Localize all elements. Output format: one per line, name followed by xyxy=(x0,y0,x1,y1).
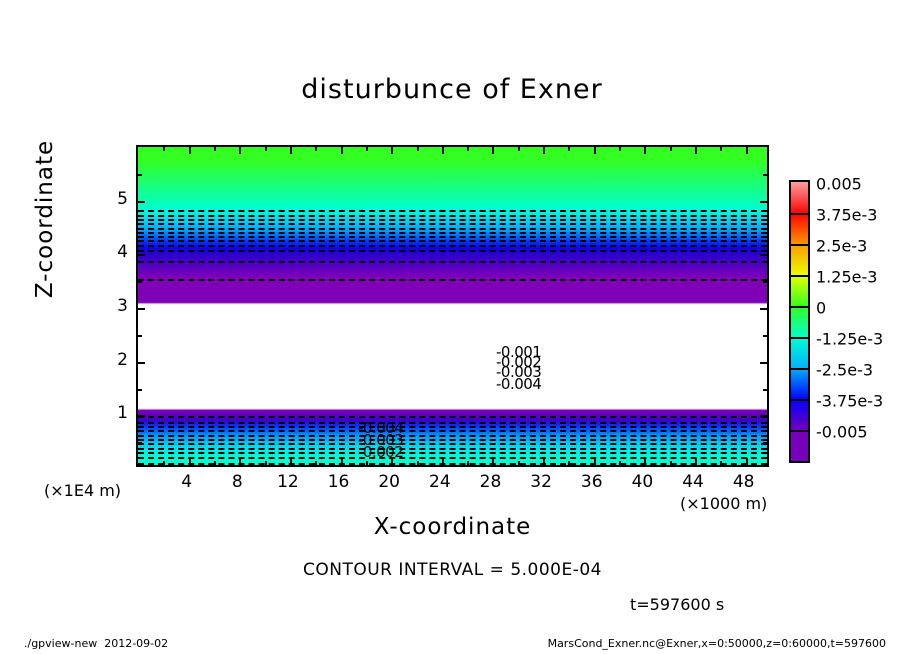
y-axis-minor-tick xyxy=(138,174,142,176)
contour-line xyxy=(138,422,767,424)
y-axis-minor-tick xyxy=(763,335,767,337)
x-axis-tick xyxy=(442,458,444,465)
x-axis-tick xyxy=(391,147,393,154)
y-axis-minor-tick xyxy=(138,335,142,337)
x-axis-tick-label: 28 xyxy=(480,472,502,492)
y-axis-tick xyxy=(760,308,767,310)
colorbar-tick-label: -1.25e-3 xyxy=(816,330,883,349)
colorbar-segment xyxy=(791,368,808,400)
x-axis-minor-tick xyxy=(619,461,621,465)
colorbar-divider xyxy=(791,213,808,215)
colorbar-divider xyxy=(791,430,808,432)
y-axis-tick-label: 4 xyxy=(100,242,128,262)
colorbar-segment xyxy=(791,244,808,276)
contour-line xyxy=(138,279,767,281)
colorbar-tick-label: -2.5e-3 xyxy=(816,361,873,380)
x-axis-tick-label: 24 xyxy=(429,472,451,492)
x-axis-tick xyxy=(290,147,292,154)
page-title: disturbunce of Exner xyxy=(0,74,904,105)
colorbar-divider xyxy=(791,368,808,370)
x-axis-tick xyxy=(341,458,343,465)
colorbar xyxy=(789,180,810,463)
x-axis-minor-tick xyxy=(417,461,419,465)
contour-line xyxy=(138,236,767,238)
y-axis-unit-label: (×1E4 m) xyxy=(44,481,121,500)
x-axis-tick xyxy=(492,147,494,154)
contour-line xyxy=(138,435,767,437)
x-axis-tick xyxy=(594,147,596,154)
y-axis-tick xyxy=(138,201,145,203)
y-axis-tick xyxy=(760,201,767,203)
y-axis-minor-tick xyxy=(763,389,767,391)
x-axis-tick xyxy=(290,458,292,465)
contour-line xyxy=(138,463,767,465)
x-axis-minor-tick xyxy=(568,147,570,151)
colorbar-segment xyxy=(791,213,808,245)
contour-line xyxy=(138,250,767,252)
x-axis-tick xyxy=(341,147,343,154)
colorbar-segment xyxy=(791,182,808,214)
y-axis-minor-tick xyxy=(138,442,142,444)
x-axis-tick xyxy=(543,458,545,465)
colorbar-segment xyxy=(791,306,808,338)
x-axis-tick xyxy=(644,147,646,154)
footer-command: ./gpview-new 2012-09-02 xyxy=(24,637,168,650)
x-axis-tick xyxy=(746,458,748,465)
x-axis-tick-label: 12 xyxy=(277,472,299,492)
y-axis-minor-tick xyxy=(763,281,767,283)
colorbar-segment xyxy=(791,430,808,462)
x-axis-minor-tick xyxy=(366,461,368,465)
x-axis-unit-label: (×1000 m) xyxy=(680,494,767,513)
contour-line xyxy=(138,215,767,217)
x-axis-minor-tick xyxy=(467,147,469,151)
x-axis-tick xyxy=(492,458,494,465)
contour-line xyxy=(138,426,767,428)
x-axis-tick xyxy=(594,458,596,465)
x-axis-minor-tick xyxy=(265,461,267,465)
contour-line xyxy=(138,416,767,418)
y-axis-tick-label: 1 xyxy=(100,403,128,423)
colorbar-segment xyxy=(791,337,808,369)
colorbar-tick-label: 2.5e-3 xyxy=(816,237,867,256)
x-axis-minor-tick xyxy=(720,147,722,151)
contour-line xyxy=(138,261,767,263)
plot-area: -0.001 -0.002 -0.003 -0.004 -0.004 xyxy=(136,145,769,467)
y-axis-minor-tick xyxy=(138,389,142,391)
x-axis-tick-label: 40 xyxy=(632,472,654,492)
y-axis-tick-label: 3 xyxy=(100,296,128,316)
contour-line xyxy=(138,228,767,230)
contour-line xyxy=(138,457,767,459)
y-axis-minor-tick xyxy=(138,281,142,283)
y-axis-tick xyxy=(760,362,767,364)
contour-line xyxy=(138,439,767,441)
x-axis-minor-tick xyxy=(518,147,520,151)
y-axis-tick xyxy=(138,308,145,310)
x-axis-tick-label: 4 xyxy=(181,472,192,492)
x-axis-minor-tick xyxy=(720,461,722,465)
x-axis-tick-label: 36 xyxy=(581,472,603,492)
x-axis-minor-tick xyxy=(315,461,317,465)
contour-line xyxy=(138,223,767,225)
x-axis-tick xyxy=(239,458,241,465)
contour-label: -0.004 xyxy=(496,375,541,393)
y-axis-minor-tick xyxy=(763,174,767,176)
x-axis-tick-label: 32 xyxy=(530,472,552,492)
y-axis-minor-tick xyxy=(763,442,767,444)
x-axis-minor-tick xyxy=(467,461,469,465)
colorbar-tick-label: 3.75e-3 xyxy=(816,206,877,225)
contour-interval-note: CONTOUR INTERVAL = 5.000E-04 xyxy=(136,560,769,580)
contour-label: -0.002 xyxy=(358,443,403,461)
x-axis-minor-tick xyxy=(163,461,165,465)
y-axis-tick-label: 2 xyxy=(100,350,128,370)
x-axis-tick xyxy=(644,458,646,465)
contour-line xyxy=(138,452,767,454)
colorbar-divider xyxy=(791,399,808,401)
contour-line xyxy=(138,448,767,450)
colorbar-tick-label: -0.005 xyxy=(816,423,868,442)
colorbar-segment xyxy=(791,399,808,431)
colorbar-divider xyxy=(791,337,808,339)
y-axis-minor-tick xyxy=(138,228,142,230)
colorbar-divider xyxy=(791,244,808,246)
footer-source: MarsCond_Exner.nc@Exner,x=0:50000,z=0:60… xyxy=(548,637,886,650)
y-axis-title: Z-coordinate xyxy=(32,119,58,319)
x-axis-tick xyxy=(189,147,191,154)
colorbar-tick-label: -3.75e-3 xyxy=(816,392,883,411)
x-axis-minor-tick xyxy=(366,147,368,151)
x-axis-minor-tick xyxy=(214,147,216,151)
x-axis-tick xyxy=(695,458,697,465)
y-axis-minor-tick xyxy=(763,228,767,230)
x-axis-tick xyxy=(189,458,191,465)
x-axis-minor-tick xyxy=(568,461,570,465)
x-axis-tick-label: 16 xyxy=(328,472,350,492)
y-axis-tick xyxy=(138,362,145,364)
colorbar-divider xyxy=(791,306,808,308)
colorbar-divider xyxy=(791,275,808,277)
x-axis-tick-label: 44 xyxy=(682,472,704,492)
contour-line xyxy=(138,430,767,432)
x-axis-tick-label: 8 xyxy=(232,472,243,492)
x-axis-minor-tick xyxy=(670,147,672,151)
x-axis-tick xyxy=(746,147,748,154)
x-axis-minor-tick xyxy=(163,147,165,151)
timestamp-note: t=597600 s xyxy=(630,595,724,614)
x-axis-minor-tick xyxy=(670,461,672,465)
y-axis-tick xyxy=(760,415,767,417)
contour-line xyxy=(138,232,767,234)
y-axis-tick xyxy=(760,254,767,256)
colorbar-tick-label: 0 xyxy=(816,299,826,318)
x-axis-minor-tick xyxy=(265,147,267,151)
colorbar-tick-label: 1.25e-3 xyxy=(816,268,877,287)
colorbar-tick-label: 0.005 xyxy=(816,175,862,194)
x-axis-minor-tick xyxy=(214,461,216,465)
y-axis-tick xyxy=(138,254,145,256)
x-axis-minor-tick xyxy=(417,147,419,151)
x-axis-tick xyxy=(695,147,697,154)
y-axis-tick-label: 5 xyxy=(100,189,128,209)
x-axis-tick xyxy=(239,147,241,154)
y-axis-tick xyxy=(138,415,145,417)
x-axis-minor-tick xyxy=(619,147,621,151)
x-axis-tick xyxy=(543,147,545,154)
x-axis-tick-label: 20 xyxy=(378,472,400,492)
x-axis-tick-label: 48 xyxy=(733,472,755,492)
contour-line xyxy=(138,240,767,242)
x-axis-title: X-coordinate xyxy=(136,514,769,540)
x-axis-minor-tick xyxy=(315,147,317,151)
contour-line xyxy=(138,219,767,221)
contour-line xyxy=(138,245,767,247)
colorbar-segment xyxy=(791,275,808,307)
x-axis-tick xyxy=(442,147,444,154)
contour-line xyxy=(138,210,767,212)
x-axis-minor-tick xyxy=(518,461,520,465)
contour-line xyxy=(138,443,767,445)
